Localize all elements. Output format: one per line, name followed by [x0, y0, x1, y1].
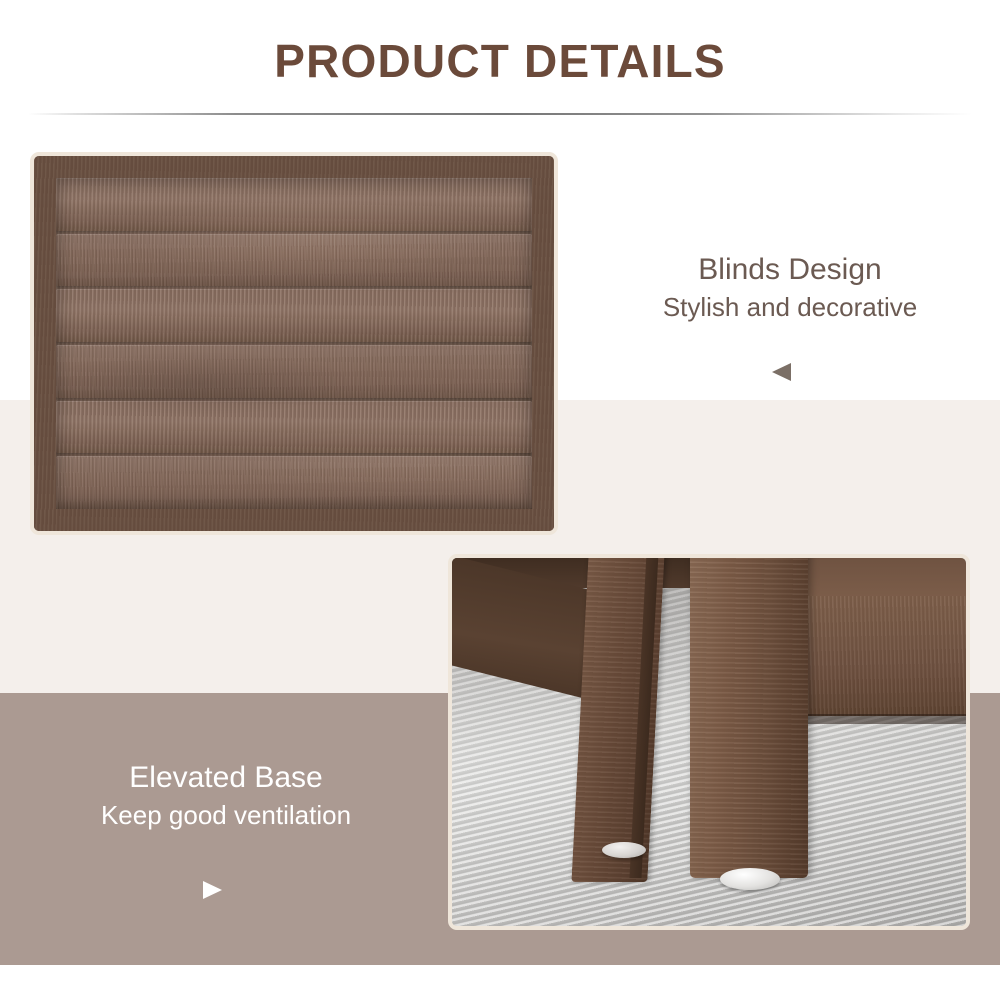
callout-elevated-base: Elevated Base Keep good ventilation: [38, 760, 414, 832]
product-details-infographic: PRODUCT DETAILS Blinds Design Styli: [0, 0, 1000, 1000]
title-divider: [28, 113, 972, 115]
callout-elevated-subline: Keep good ventilation: [38, 799, 414, 832]
rear-left-foot-pad: [602, 842, 646, 858]
background-band-white-bottom: [0, 965, 1000, 1000]
slatted-wood-panel-photo: [30, 152, 558, 535]
panel-outer-frame: [34, 156, 554, 531]
right-apron-top: [804, 554, 970, 602]
page-title: PRODUCT DETAILS: [0, 34, 1000, 88]
elevated-base-legs-photo: [448, 554, 970, 930]
right-apron-panel: [804, 596, 970, 716]
callout-blinds-subline: Stylish and decorative: [600, 291, 980, 324]
arrow-left-icon: [772, 363, 791, 381]
callout-elevated-headline: Elevated Base: [38, 760, 414, 795]
front-foot-pad: [720, 868, 780, 890]
front-leg: [690, 554, 808, 878]
callout-blinds-design: Blinds Design Stylish and decorative: [600, 252, 980, 324]
arrow-right-icon: [203, 881, 222, 899]
callout-blinds-headline: Blinds Design: [600, 252, 980, 287]
right-apron-gap: [804, 714, 970, 724]
